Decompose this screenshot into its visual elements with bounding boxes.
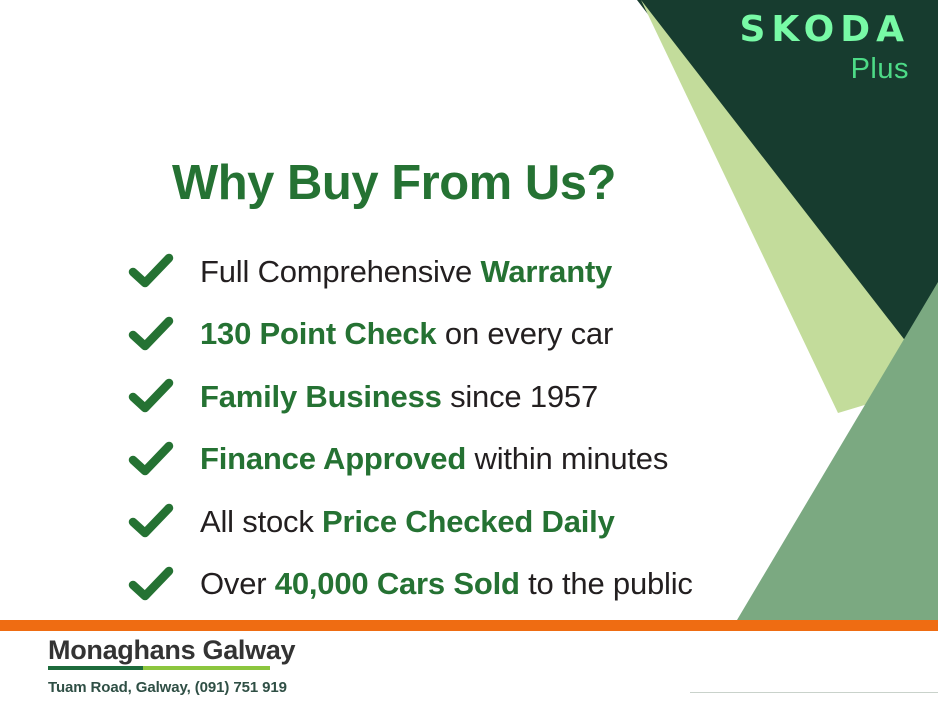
benefit-item: Family Business since 1957 (128, 365, 693, 428)
underline-dark-segment (48, 666, 143, 670)
benefit-emphasis: Warranty (480, 254, 612, 289)
plus-sublabel: Plus (739, 55, 912, 84)
dealer-address: Tuam Road, Galway, (091) 751 919 (48, 679, 295, 696)
dealer-name-underline (48, 666, 270, 670)
orange-divider-bar (0, 620, 938, 631)
skoda-wordmark: SKODA (739, 12, 912, 48)
benefit-item: Full Comprehensive Warranty (128, 240, 693, 303)
check-icon (128, 314, 174, 354)
benefit-emphasis: Finance Approved (200, 441, 466, 476)
check-icon (128, 251, 174, 291)
bottom-hairline-rule (690, 692, 938, 693)
benefit-item: All stock Price Checked Daily (128, 490, 693, 553)
check-icon (128, 439, 174, 479)
page-title: Why Buy From Us? (172, 155, 616, 211)
benefit-text: Family Business since 1957 (200, 381, 598, 412)
check-icon (128, 376, 174, 416)
benefit-item: Finance Approved within minutes (128, 428, 693, 491)
benefit-emphasis: Price Checked Daily (322, 504, 615, 539)
medium-green-triangle (737, 282, 938, 620)
benefit-text: Full Comprehensive Warranty (200, 256, 612, 287)
promotional-poster: SKODA Plus Why Buy From Us? Full Compreh… (0, 0, 938, 704)
benefit-plain: Over (200, 566, 275, 601)
benefit-plain: to the public (520, 566, 693, 601)
benefit-plain: on every car (436, 316, 613, 351)
benefit-text: Over 40,000 Cars Sold to the public (200, 568, 693, 599)
benefit-emphasis: Family Business (200, 379, 442, 414)
dealer-name: Monaghans Galway (48, 636, 295, 664)
benefit-emphasis: 40,000 Cars Sold (275, 566, 520, 601)
benefit-emphasis: 130 Point Check (200, 316, 436, 351)
benefit-text: 130 Point Check on every car (200, 318, 613, 349)
benefit-plain: within minutes (466, 441, 668, 476)
benefit-item: Over 40,000 Cars Sold to the public (128, 553, 693, 616)
benefit-plain: since 1957 (442, 379, 598, 414)
benefit-plain: All stock (200, 504, 322, 539)
benefit-text: Finance Approved within minutes (200, 443, 668, 474)
benefit-plain: Full Comprehensive (200, 254, 480, 289)
dealer-footer: Monaghans Galway Tuam Road, Galway, (091… (48, 636, 295, 696)
skoda-plus-logo: SKODA Plus (739, 12, 912, 84)
check-icon (128, 501, 174, 541)
check-icon (128, 564, 174, 604)
benefit-text: All stock Price Checked Daily (200, 506, 615, 537)
benefit-item: 130 Point Check on every car (128, 303, 693, 366)
underline-light-segment (143, 666, 270, 670)
benefits-list: Full Comprehensive Warranty130 Point Che… (128, 240, 693, 615)
